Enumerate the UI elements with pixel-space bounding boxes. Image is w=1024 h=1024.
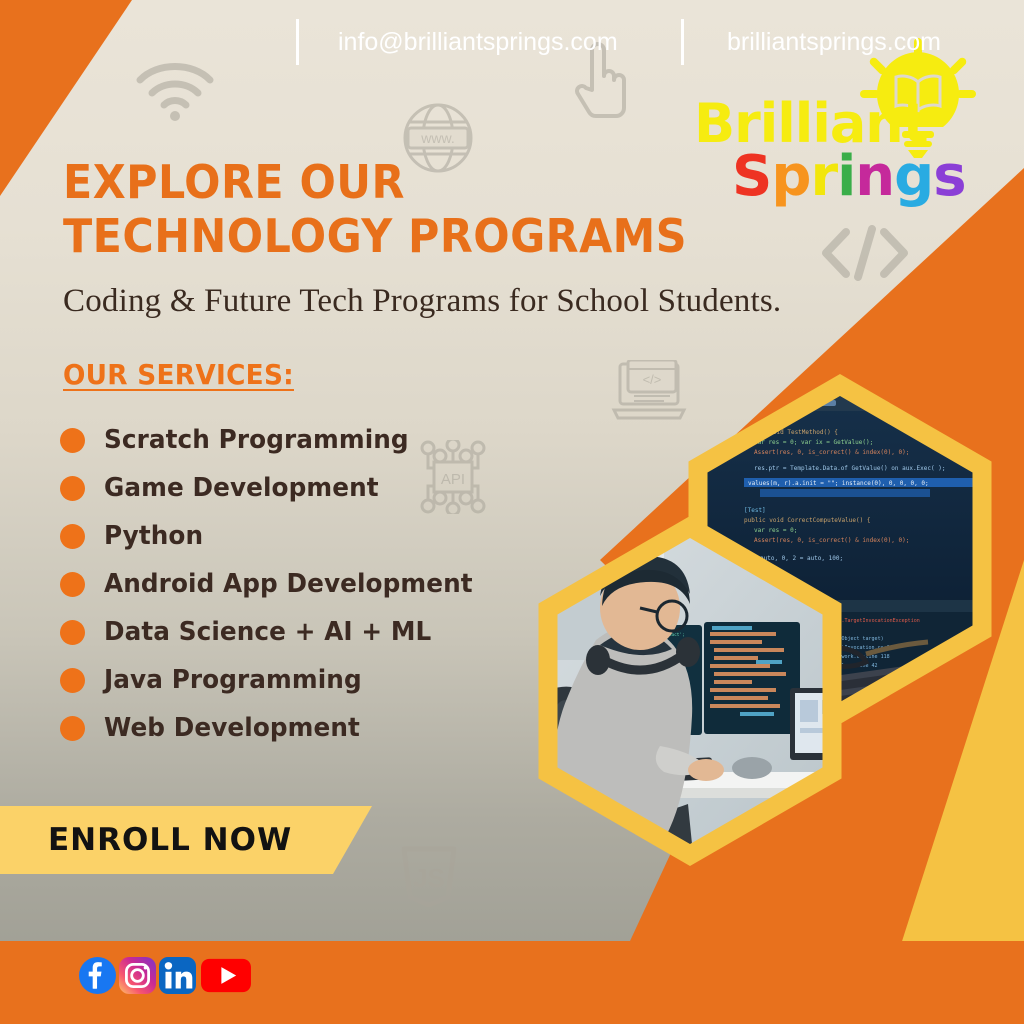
enroll-now-label: ENROLL NOW bbox=[48, 822, 292, 858]
svg-text:auto, 0, 2 = auto, 100;: auto, 0, 2 = auto, 100; bbox=[760, 555, 843, 562]
svg-text:Assert(res, 0, is_correct() &: Assert(res, 0, is_correct() & index(0), … bbox=[754, 449, 909, 456]
svg-text:var res = 0; var ix = GetValue: var res = 0; var ix = GetValue(); bbox=[754, 439, 873, 446]
youtube-icon[interactable] bbox=[201, 957, 251, 994]
enroll-now-button[interactable]: ENROLL NOW bbox=[0, 806, 372, 874]
svg-text:public void CorrectComputeValu: public void CorrectComputeValue() { bbox=[744, 517, 870, 524]
instagram-icon[interactable] bbox=[119, 957, 156, 994]
footer-email[interactable]: info@brilliantsprings.com bbox=[338, 28, 618, 57]
footer-divider-1 bbox=[296, 19, 299, 65]
linkedin-icon[interactable] bbox=[159, 957, 196, 994]
footer-divider-2 bbox=[681, 19, 684, 65]
svg-text:var res = 0;: var res = 0; bbox=[754, 527, 797, 534]
svg-text:[Test]: [Test] bbox=[744, 507, 766, 514]
promotional-poster: www. </> API JS bbox=[0, 0, 1024, 1024]
facebook-icon[interactable] bbox=[79, 957, 116, 994]
svg-text:values(m, r).a.init = ""; inst: values(m, r).a.init = ""; instance(0), 0… bbox=[748, 480, 929, 487]
svg-text:res.ptr = Template.Data.of Get: res.ptr = Template.Data.of GetValue() on… bbox=[754, 465, 945, 472]
svg-text:Assert(res, 0, is_correct() &: Assert(res, 0, is_correct() & index(0), … bbox=[754, 537, 909, 544]
footer-website[interactable]: brilliantsprings.com bbox=[727, 28, 941, 57]
